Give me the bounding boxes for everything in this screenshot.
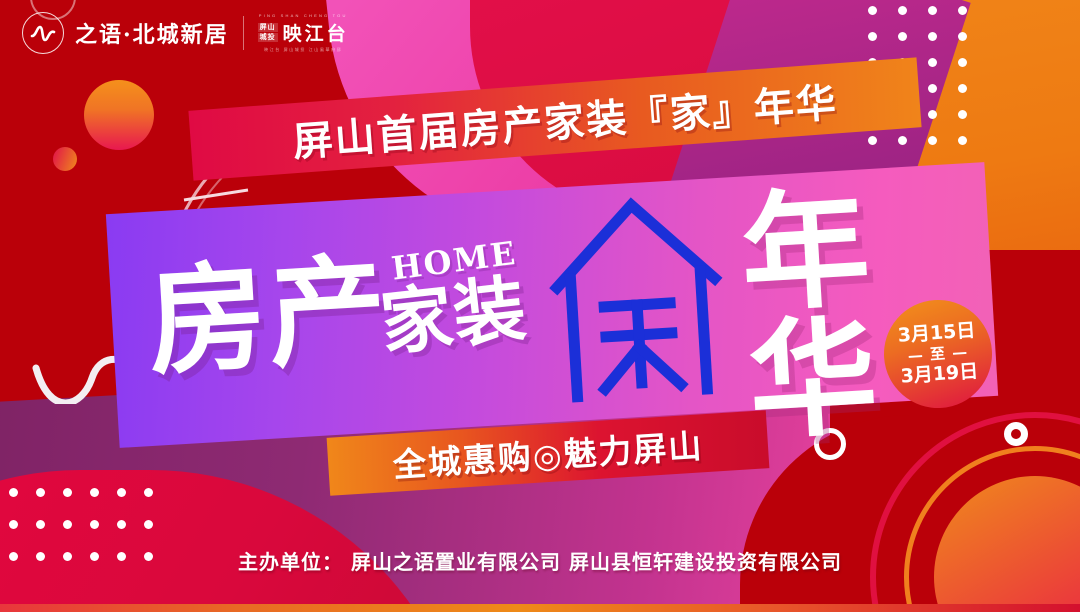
footer-organizers-label: 主办单位： 屏山之语置业有限公司 屏山县恒轩建设投资有限公司	[238, 546, 842, 575]
bottom-accent-strip	[0, 604, 1080, 612]
date-badge-end: 3月19日	[900, 360, 979, 389]
concentric-arcs-decoration	[870, 412, 1080, 612]
logo-row: 之语·北城新居 PING SHAN CHENG TOU 屏山 城投 映江台 映江…	[22, 12, 349, 54]
logo-divider	[243, 16, 244, 50]
logo-secondary-label: 映江台	[283, 19, 349, 46]
logo-secondary-pinyin-top: PING SHAN CHENG TOU	[259, 13, 348, 18]
house-jia-icon	[535, 182, 737, 408]
logo-secondary-badge-line2: 城投	[258, 33, 278, 42]
logo-primary-label: 之语·北城新居	[75, 17, 229, 49]
headline-word-fangchan: 房产	[145, 250, 392, 382]
promo-poster: 之语·北城新居 PING SHAN CHENG TOU 屏山 城投 映江台 映江…	[0, 0, 1080, 612]
wave-circle-icon	[22, 12, 64, 54]
headline-word-jiazhuang: 家装	[377, 272, 530, 360]
footer: 主办单位： 屏山之语置业有限公司 屏山县恒轩建设投资有限公司	[0, 540, 1080, 580]
logo-secondary-badge: 屏山 城投	[258, 23, 278, 42]
logo-primary[interactable]: 之语·北城新居	[22, 12, 229, 54]
gradient-circle-small-icon	[53, 147, 77, 171]
logo-secondary-pinyin-bottom: 映江台 屏山城投 江山風華府邸	[264, 47, 342, 53]
logo-secondary-badge-line1: 屏山	[258, 23, 278, 32]
logo-secondary[interactable]: PING SHAN CHENG TOU 屏山 城投 映江台 映江台 屏山城投 江…	[258, 13, 349, 53]
gradient-circle-large-icon	[84, 80, 154, 150]
